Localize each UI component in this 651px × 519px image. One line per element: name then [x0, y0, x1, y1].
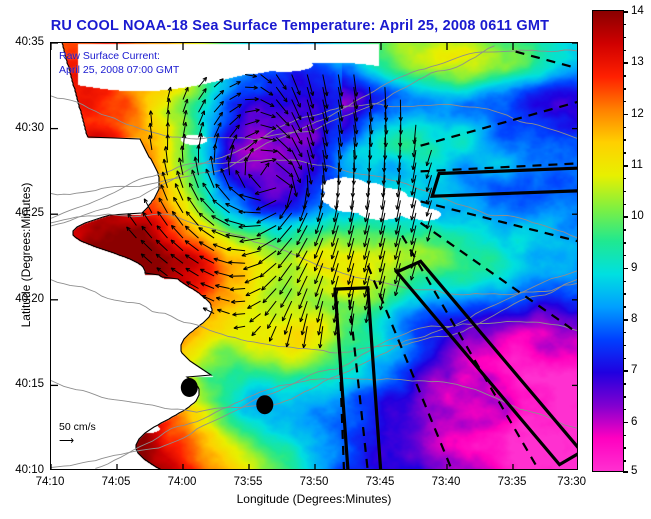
colorbar-minor-tick — [623, 435, 626, 437]
y-tick-label: 40:20 — [2, 293, 44, 305]
y-tick-label: 40:35 — [2, 36, 44, 48]
x-tick-label: 74:10 — [36, 476, 65, 488]
velocity-scale-arrow-icon: ⟶ — [59, 435, 96, 447]
colorbar-minor-tick — [623, 293, 626, 295]
colorbar-minor-tick — [623, 88, 626, 90]
colorbar-tick-label: 9 — [631, 262, 637, 274]
colorbar-tick-label: 8 — [631, 313, 637, 325]
x-tick-label: 73:50 — [300, 476, 329, 488]
y-axis-title: Latitude (Degrees:Minutes) — [19, 135, 33, 375]
x-axis-title: Longitude (Degrees:Minutes) — [50, 492, 578, 506]
colorbar-minor-tick — [623, 229, 626, 231]
colorbar-minor-tick — [623, 101, 626, 103]
colorbar-minor-tick — [623, 471, 626, 473]
y-tick-label: 40:25 — [2, 207, 44, 219]
current-annotation: Raw Surface Current: April 25, 2008 07:0… — [59, 49, 179, 77]
colorbar-minor-tick — [623, 396, 626, 398]
colorbar-minor-tick — [623, 191, 626, 193]
colorbar-minor-tick — [623, 127, 626, 129]
colorbar-minor-tick — [623, 139, 626, 141]
colorbar-minor-tick — [623, 268, 626, 270]
surface-current-vectors — [127, 74, 432, 348]
colorbar-minor-tick — [623, 114, 626, 116]
x-tick-label: 73:45 — [366, 476, 395, 488]
colorbar-minor-tick — [623, 281, 626, 283]
colorbar-minor-tick — [623, 11, 626, 13]
colorbar-minor-tick — [623, 24, 626, 26]
x-tick-label: 73:30 — [557, 476, 586, 488]
station-markers[interactable] — [181, 378, 273, 414]
colorbar-gradient — [593, 11, 623, 471]
colorbar-minor-tick — [623, 50, 626, 52]
x-tick-label: 73:40 — [432, 476, 461, 488]
bathymetry-contours — [51, 46, 577, 469]
colorbar-tick-label: 11 — [631, 159, 643, 171]
colorbar-minor-tick — [623, 409, 626, 411]
colorbar: 141312111098765 — [592, 10, 624, 472]
colorbar-minor-tick — [623, 204, 626, 206]
colorbar-minor-tick — [623, 165, 626, 167]
colorbar-minor-tick — [623, 255, 626, 257]
colorbar-minor-tick — [623, 370, 626, 372]
sst-map-plot[interactable]: Raw Surface Current: April 25, 2008 07:0… — [50, 42, 578, 470]
colorbar-minor-tick — [623, 178, 626, 180]
colorbar-minor-tick — [623, 306, 626, 308]
colorbar-minor-tick — [623, 383, 626, 385]
colorbar-minor-tick — [623, 460, 626, 462]
colorbar-tick-label: 12 — [631, 108, 644, 120]
x-tick-label: 74:05 — [102, 476, 131, 488]
y-tick-label: 40:15 — [2, 378, 44, 390]
x-tick-label: 74:00 — [168, 476, 197, 488]
colorbar-minor-tick — [623, 358, 626, 360]
colorbar-minor-tick — [623, 345, 626, 347]
colorbar-tick-label: 7 — [631, 364, 637, 376]
velocity-scale-label: 50 cm/s — [59, 421, 96, 433]
colorbar-tick-label: 6 — [631, 416, 637, 428]
y-tick-label: 40:30 — [2, 122, 44, 134]
map-overlay-layer — [51, 43, 578, 470]
x-tick-label: 73:55 — [234, 476, 263, 488]
colorbar-tick-label: 10 — [631, 210, 644, 222]
page-title: RU COOL NOAA-18 Sea Surface Temperature:… — [0, 18, 600, 34]
colorbar-tick-label: 13 — [631, 56, 644, 68]
colorbar-minor-tick — [623, 319, 626, 321]
colorbar-minor-tick — [623, 422, 626, 424]
colorbar-minor-tick — [623, 152, 626, 154]
current-annotation-line1: Raw Surface Current: — [59, 49, 179, 63]
colorbar-minor-tick — [623, 75, 626, 77]
coastline — [62, 43, 212, 470]
current-annotation-line2: April 25, 2008 07:00 GMT — [59, 63, 179, 77]
survey-boxes — [335, 168, 578, 470]
colorbar-tick-label: 5 — [631, 465, 637, 477]
colorbar-minor-tick — [623, 216, 626, 218]
velocity-scale-key: 50 cm/s ⟶ — [59, 421, 96, 447]
colorbar-minor-tick — [623, 332, 626, 334]
colorbar-minor-tick — [623, 37, 626, 39]
colorbar-minor-tick — [623, 447, 626, 449]
y-tick-label: 40:10 — [2, 464, 44, 476]
colorbar-tick-label: 14 — [631, 5, 644, 17]
colorbar-minor-tick — [623, 62, 626, 64]
x-tick-label: 73:35 — [498, 476, 527, 488]
colorbar-minor-tick — [623, 242, 626, 244]
